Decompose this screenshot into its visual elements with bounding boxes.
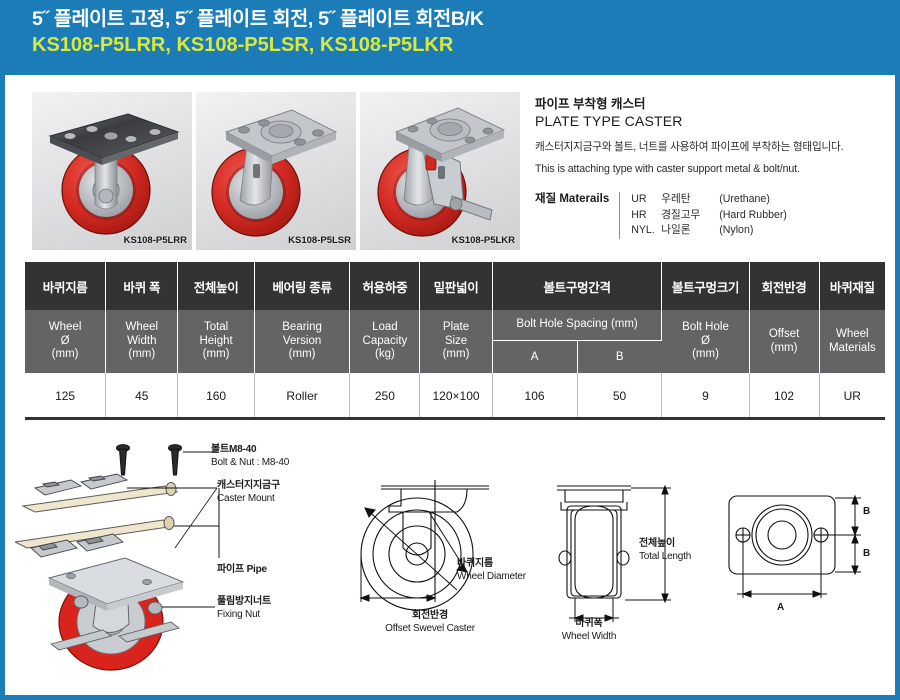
materials-label: 재질 Materails <box>535 192 619 207</box>
label-wheel-width: 바퀴폭 Wheel Width <box>541 618 637 643</box>
th-en-load-capacity: Load Capacity (kg) <box>350 310 420 373</box>
assembly-exploded-diagram <box>15 430 345 680</box>
th-ko-offset: 회전반경 <box>749 262 819 310</box>
label-dim-b-top: B <box>863 506 870 519</box>
label-fixing-nut: 풀림방지너트 Fixing Nut <box>217 596 271 621</box>
table-header-korean-row: 바퀴지름 바퀴 폭 전체높이 베어링 종류 허용하중 밑판넓이 볼트구멍간격 볼… <box>25 262 885 310</box>
label-total-length: 전체높이 Total Length <box>639 538 691 563</box>
th-en-offset: Offset (mm) <box>749 310 819 373</box>
product-description: 파이프 부착형 캐스터 PLATE TYPE CASTER 캐스터지지금구와 볼… <box>535 96 885 239</box>
label-dim-b-bottom: B <box>863 548 870 561</box>
description-title-english: PLATE TYPE CASTER <box>535 112 885 130</box>
th-en-plate-size: Plate Size (mm) <box>420 310 492 373</box>
product-photo-swivel: KS108-P5LSR <box>196 92 356 250</box>
material-code: NYL. <box>631 223 661 239</box>
swivel-brake-caster-image <box>360 92 520 250</box>
page-model-numbers: KS108-P5LRR, KS108-P5LSR, KS108-P5LKR <box>32 32 900 59</box>
cell-plate-size: 120×100 <box>420 373 492 419</box>
page-header: 5˝ 플레이트 고정, 5˝ 플레이트 회전, 5˝ 플레이트 회전B/K KS… <box>5 0 900 75</box>
material-item: HR 경질고무 (Hard Rubber) <box>631 208 787 224</box>
label-offset-swivel: 회전반경 Offset Swevel Caster <box>350 610 510 635</box>
material-name-english: (Nylon) <box>719 223 753 239</box>
swivel-caster-image <box>196 92 356 250</box>
page-title-korean: 5˝ 플레이트 고정, 5˝ 플레이트 회전, 5˝ 플레이트 회전B/K <box>32 6 900 32</box>
photo-caption: KS108-P5LKR <box>452 235 515 246</box>
description-body-korean: 캐스터지지금구와 볼트, 너트를 사용하여 파이프에 부착하는 형태입니다. <box>535 140 885 155</box>
th-ko-plate-size: 밑판넓이 <box>420 262 492 310</box>
th-en-wheel-materials: Wheel Materials <box>819 310 885 373</box>
label-pipe: 파이프 Pipe <box>217 564 267 577</box>
cell-bearing-version: Roller <box>254 373 350 419</box>
th-ko-wheel-diameter: 바퀴지름 <box>25 262 106 310</box>
label-caster-mount: 캐스터지지금구 Caster Mount <box>217 480 280 505</box>
label-bolt: 볼트M8-40 Bolt & Nut : M8-40 <box>211 444 289 469</box>
th-en-bearing-version: Bearing Version (mm) <box>254 310 350 373</box>
product-photo-rigid: KS108-P5LRR <box>32 92 192 250</box>
photo-caption: KS108-P5LRR <box>124 235 187 246</box>
table-header-english-row: Wheel Ø (mm) Wheel Width (mm) Total Heig… <box>25 310 885 341</box>
rigid-caster-image <box>32 92 192 250</box>
th-en-bolt-hole-spacing: Bolt Hole Spacing (mm) <box>492 310 662 341</box>
material-name-english: (Urethane) <box>719 192 770 208</box>
material-code: UR <box>631 192 661 208</box>
th-ko-wheel-material: 바퀴재질 <box>819 262 885 310</box>
label-dim-a: A <box>777 602 784 615</box>
photo-caption: KS108-P5LSR <box>288 235 351 246</box>
th-ko-load-capacity: 허용하중 <box>350 262 420 310</box>
cell-load-capacity: 250 <box>350 373 420 419</box>
cell-offset: 102 <box>749 373 819 419</box>
specification-table: 바퀴지름 바퀴 폭 전체높이 베어링 종류 허용하중 밑판넓이 볼트구멍간격 볼… <box>25 262 885 419</box>
material-name-english: (Hard Rubber) <box>719 208 787 224</box>
cell-wheel-materials: UR <box>819 373 885 419</box>
th-en-total-height: Total Height (mm) <box>178 310 254 373</box>
th-en-bolt-hole-diameter: Bolt Hole Ø (mm) <box>662 310 749 373</box>
product-spec-page: 5˝ 플레이트 고정, 5˝ 플레이트 회전, 5˝ 플레이트 회전B/K KS… <box>0 0 900 700</box>
materials-block: 재질 Materails UR 우레탄 (Urethane) HR 경질고무 (… <box>535 192 885 239</box>
th-ko-wheel-width: 바퀴 폭 <box>106 262 178 310</box>
th-ko-bolt-hole-size: 볼트구멍크기 <box>662 262 749 310</box>
cell-bolt-hole-spacing-a: 106 <box>492 373 577 419</box>
description-body-english: This is attaching type with caster suppo… <box>535 162 885 177</box>
th-sub-b: B <box>577 341 662 374</box>
material-code: HR <box>631 208 661 224</box>
material-name-korean: 경질고무 <box>661 208 719 224</box>
cell-wheel-diameter: 125 <box>25 373 106 419</box>
description-title-korean: 파이프 부착형 캐스터 <box>535 96 885 112</box>
material-item: UR 우레탄 (Urethane) <box>631 192 787 208</box>
th-en-wheel-diameter: Wheel Ø (mm) <box>25 310 106 373</box>
material-name-korean: 우레탄 <box>661 192 719 208</box>
label-wheel-diameter: 바퀴지름 Wheel Diameter <box>457 558 526 583</box>
product-photo-swivel-brake: KS108-P5LKR <box>360 92 520 250</box>
th-ko-bearing-version: 베어링 종류 <box>254 262 350 310</box>
th-en-wheel-width: Wheel Width (mm) <box>106 310 178 373</box>
table-bottom-rule <box>25 417 885 420</box>
th-ko-total-height: 전체높이 <box>178 262 254 310</box>
material-name-korean: 나일론 <box>661 223 719 239</box>
cell-total-height: 160 <box>178 373 254 419</box>
th-sub-a: A <box>492 341 577 374</box>
material-item: NYL. 나일론 (Nylon) <box>631 223 787 239</box>
table-row: 125 45 160 Roller 250 120×100 106 50 9 1… <box>25 373 885 419</box>
materials-list: UR 우레탄 (Urethane) HR 경질고무 (Hard Rubber) … <box>619 192 787 239</box>
diagram-section: 볼트M8-40 Bolt & Nut : M8-40 캐스터지지금구 Caste… <box>5 430 900 695</box>
cell-wheel-width: 45 <box>106 373 178 419</box>
cell-bolt-hole-diameter: 9 <box>662 373 749 419</box>
cell-bolt-hole-spacing-b: 50 <box>577 373 662 419</box>
product-photo-strip: KS108-P5LRR KS10 <box>32 92 520 250</box>
th-ko-bolt-hole-spacing: 볼트구멍간격 <box>492 262 662 310</box>
